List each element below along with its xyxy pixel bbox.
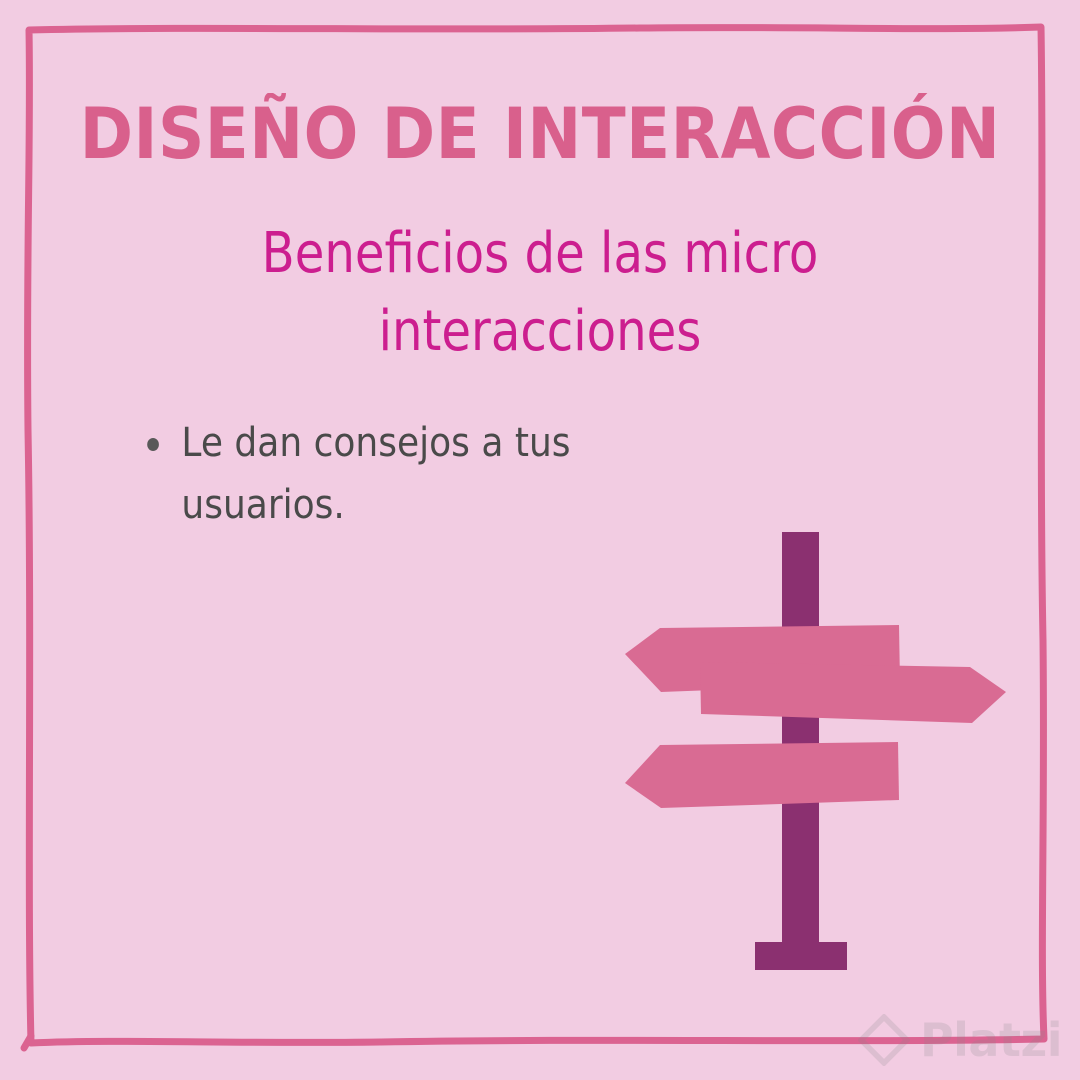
slide-canvas: DISEÑO DE INTERACCIÓN Beneficios de las …	[0, 0, 1080, 1080]
page-title: DISEÑO DE INTERACCIÓN	[43, 95, 1037, 173]
signpost-sign-bottom	[625, 742, 899, 808]
page-subtitle: Beneficios de las micro interacciones	[196, 215, 884, 371]
list-item: Le dan consejos a tus usuarios.	[140, 412, 644, 536]
signpost-illustration	[600, 515, 1020, 985]
platzi-wordmark: Platzi	[920, 1017, 1062, 1063]
list-item-label: Le dan consejos a tus usuarios.	[181, 420, 570, 528]
bullet-dot-icon	[147, 438, 159, 451]
platzi-watermark: Platzi	[858, 1014, 1062, 1066]
signpost-sign-middle	[700, 662, 1006, 723]
signpost-base	[755, 942, 847, 970]
platzi-diamond-icon	[858, 1014, 910, 1066]
